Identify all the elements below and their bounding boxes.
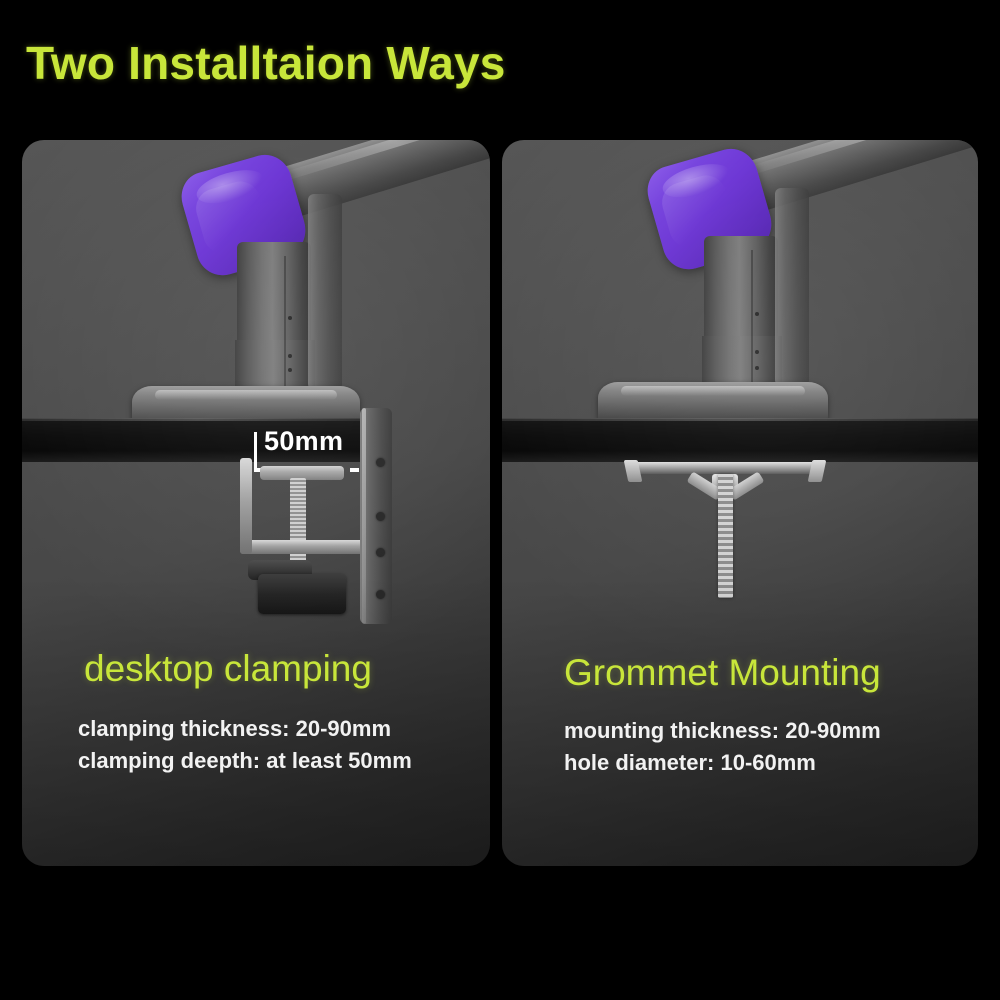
- panel-desktop-clamping: 50mm desktop clamping clamping thickness…: [22, 140, 490, 866]
- base-highlight: [155, 390, 337, 400]
- post-seam: [284, 256, 286, 398]
- grommet-hook-right: [808, 460, 827, 482]
- post-dot: [755, 350, 759, 354]
- desk-top-edge: [22, 418, 384, 421]
- arm-highlight: [741, 140, 978, 178]
- page-title: Two Installtaion Ways: [26, 36, 506, 90]
- grommet-threaded-bolt: [718, 474, 733, 598]
- desk-top-edge: [502, 418, 978, 421]
- caption-spec-mounting-thickness: mounting thickness: 20-90mm: [564, 718, 881, 744]
- post-dot: [755, 366, 759, 370]
- caption-spec-clamping-thickness: clamping thickness: 20-90mm: [78, 716, 391, 742]
- bracket-nub: [376, 548, 385, 557]
- clamp-bracket-edge: [362, 408, 366, 624]
- grommet-bracket-plate: [630, 462, 820, 474]
- caption-spec-hole-diameter: hole diameter: 10-60mm: [564, 750, 816, 776]
- clamp-knob: [258, 574, 346, 614]
- bracket-nub: [376, 590, 385, 599]
- arm-rear-column: [308, 194, 342, 390]
- post-dot: [755, 312, 759, 316]
- post-dot: [288, 368, 292, 372]
- caption-heading-grommet-mounting: Grommet Mounting: [564, 652, 881, 694]
- desk-surface: [502, 418, 978, 462]
- caption-heading-desktop-clamping: desktop clamping: [84, 648, 372, 690]
- measurement-label: 50mm: [264, 426, 343, 457]
- arm-rear-column: [775, 188, 809, 386]
- panel-grommet-mounting: Grommet Mounting mounting thickness: 20-…: [502, 140, 978, 866]
- clamp-horizontal-arm: [240, 540, 364, 554]
- post-seam: [751, 250, 753, 394]
- base-highlight: [621, 386, 805, 396]
- clamp-vertical-arm: [240, 458, 252, 554]
- post-dot: [288, 354, 292, 358]
- caption-spec-clamping-depth: clamping deepth: at least 50mm: [78, 748, 412, 774]
- post-dot: [288, 316, 292, 320]
- bracket-nub: [376, 512, 385, 521]
- measurement-tick: [254, 432, 257, 468]
- bracket-nub: [376, 458, 385, 467]
- arm-highlight: [275, 140, 490, 184]
